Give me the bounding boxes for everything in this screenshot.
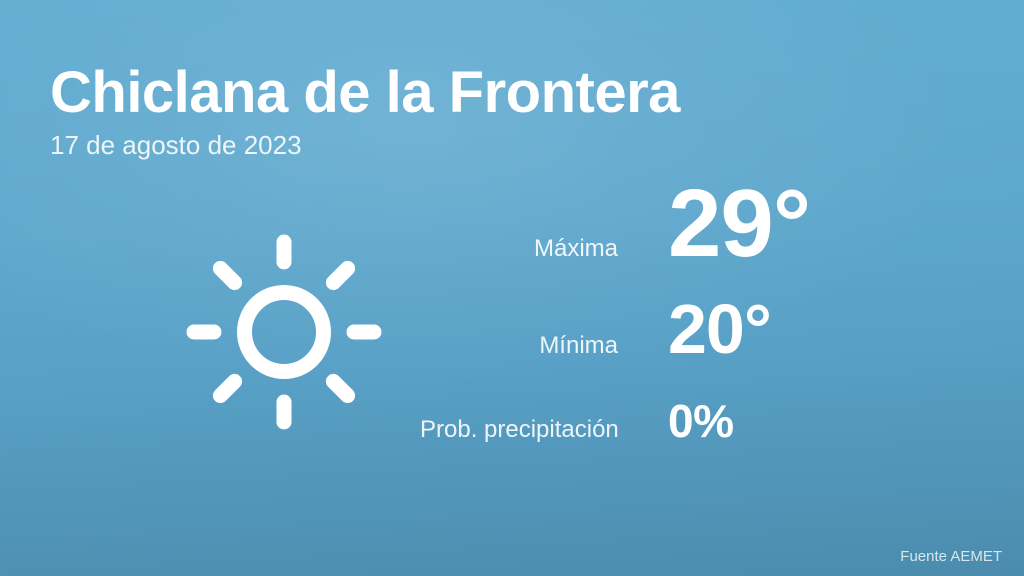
stat-label-minima: Mínima bbox=[420, 332, 668, 360]
stat-row-minima: Mínima 20° bbox=[420, 294, 940, 398]
stat-label-maxima: Máxima bbox=[420, 235, 668, 263]
stat-value-minima: 20° bbox=[668, 294, 771, 364]
sun-icon bbox=[174, 222, 394, 442]
forecast-date: 17 de agosto de 2023 bbox=[50, 124, 680, 160]
city-title: Chiclana de la Frontera bbox=[50, 62, 680, 124]
card-header: Chiclana de la Frontera 17 de agosto de … bbox=[50, 62, 680, 160]
source-attribution: Fuente AEMET bbox=[900, 548, 1002, 565]
stat-label-precipitacion: Prob. precipitación bbox=[420, 416, 668, 444]
weather-card: Chiclana de la Frontera 17 de agosto de … bbox=[0, 0, 1024, 576]
stat-row-maxima: Máxima 29° bbox=[420, 176, 940, 294]
stat-row-precipitacion: Prob. precipitación 0% bbox=[420, 398, 940, 474]
stat-value-maxima: 29° bbox=[668, 176, 810, 272]
stats-list: Máxima 29° Mínima 20° Prob. precipitació… bbox=[420, 176, 940, 474]
stat-value-precipitacion: 0% bbox=[668, 398, 733, 444]
